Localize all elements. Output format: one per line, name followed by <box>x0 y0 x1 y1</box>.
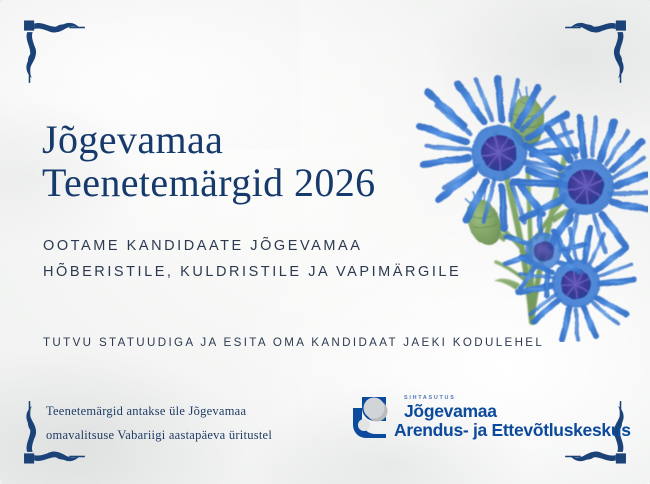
corner-ornament-top-left-icon <box>10 8 88 86</box>
subheading-text: OOTAME KANDIDAATE JÕGEVAMAA HÕBERISTILE,… <box>43 233 461 286</box>
page-title: Jõgevamaa Teenetemärgid 2026 <box>42 118 376 204</box>
poster-canvas: Jõgevamaa Teenetemärgid 2026 OOTAME KAND… <box>0 0 650 484</box>
logo-mark-icon <box>350 395 397 440</box>
callout-text: TUTVU STATUUDIGA JA ESITA OMA KANDIDAAT … <box>43 336 544 349</box>
footnote-text: Teenetemärgid antakse üle Jõgevamaa omav… <box>46 399 272 448</box>
logo-wordmark: SIHTASUTUS Jõgevamaa Arendus- ja Ettevõt… <box>404 393 631 440</box>
logo-name-line-2: Arendus- ja Ettevõtluskeskus <box>394 421 631 439</box>
corner-ornament-top-right-icon <box>562 8 640 86</box>
logo-name-line-1: Jõgevamaa <box>404 403 631 421</box>
organisation-logo: SIHTASUTUS Jõgevamaa Arendus- ja Ettevõt… <box>350 393 631 440</box>
